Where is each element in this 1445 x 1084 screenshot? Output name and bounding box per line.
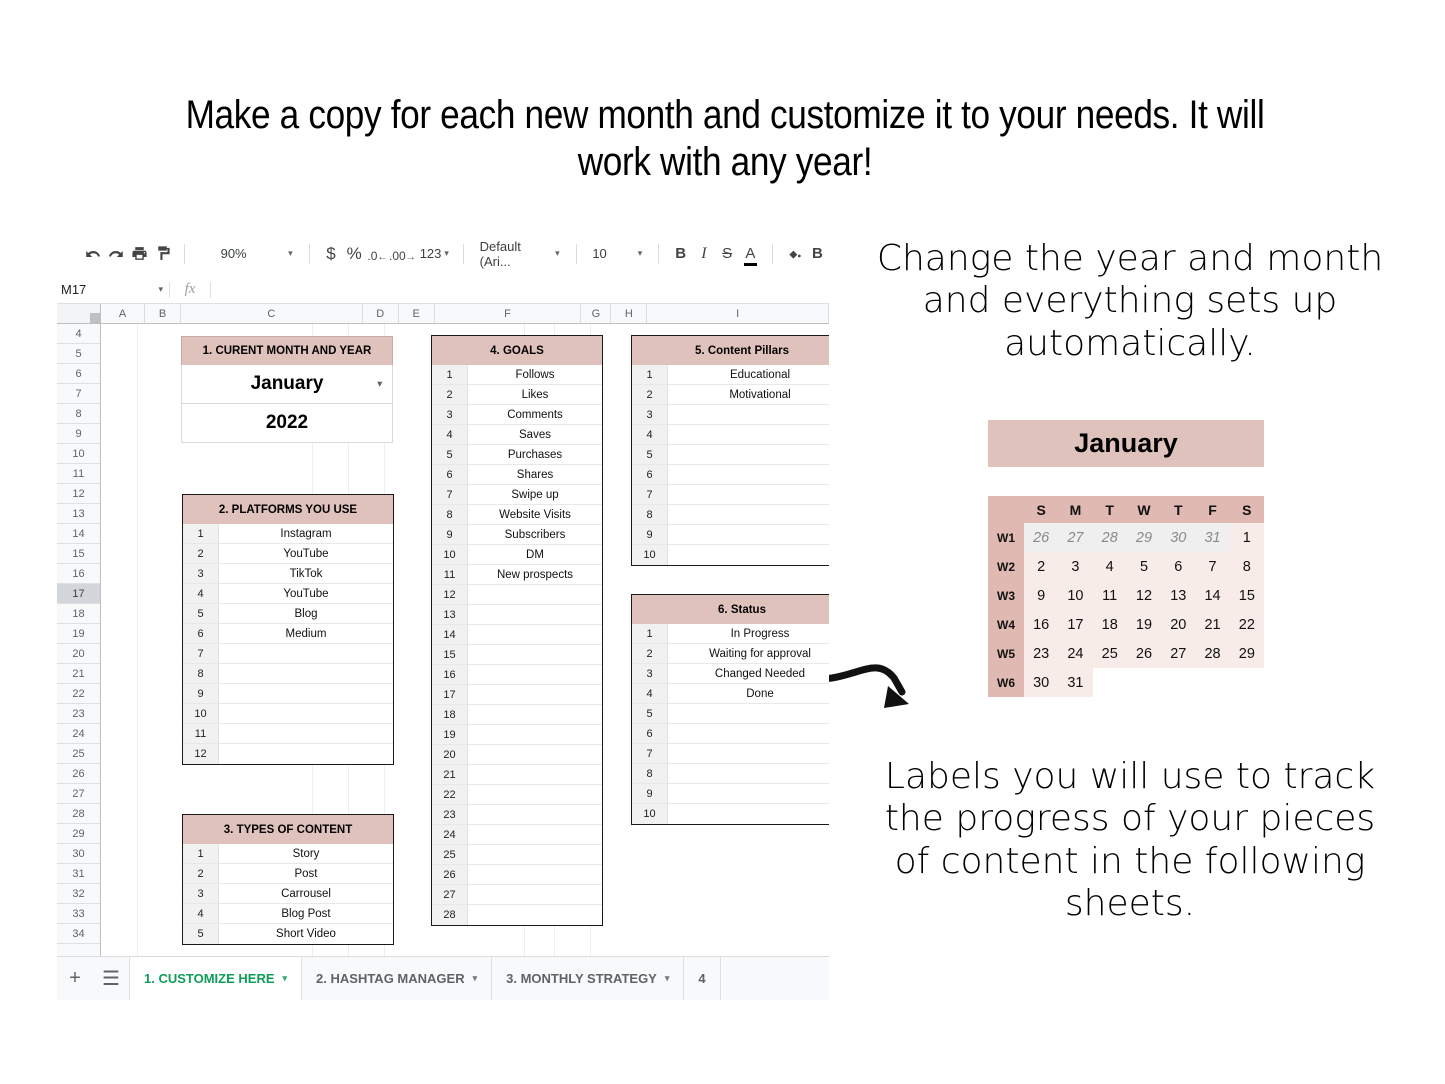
column-header-c[interactable]: C [181, 304, 363, 323]
table-row[interactable]: 4 [632, 425, 829, 445]
strikethrough-button[interactable]: S [715, 239, 738, 269]
table-row[interactable]: 3Changed Needed [632, 664, 829, 684]
row-header-21[interactable]: 21 [57, 664, 100, 684]
table-row[interactable]: 10DM [432, 545, 602, 565]
row-value[interactable]: Follows [468, 365, 602, 384]
calendar-day-cell[interactable]: 31 [1058, 668, 1092, 697]
chevron-down-icon[interactable]: ▾ [473, 973, 478, 984]
currency-format-button[interactable]: $ [319, 239, 342, 269]
table-row[interactable]: 5 [632, 704, 829, 724]
fill-color-icon[interactable] [783, 239, 806, 269]
table-row[interactable]: 6Medium [183, 624, 393, 644]
table-row[interactable]: 6Shares [432, 465, 602, 485]
row-value[interactable]: Blog Post [219, 904, 393, 923]
row-value[interactable]: Swipe up [468, 485, 602, 504]
formula-input[interactable] [211, 276, 829, 304]
calendar-day-cell[interactable]: 14 [1195, 581, 1229, 610]
table-row[interactable]: 25 [432, 845, 602, 865]
calendar-day-cell[interactable]: 28 [1093, 523, 1127, 552]
month-cell[interactable]: January ▾ [181, 365, 393, 404]
table-row[interactable]: 18 [432, 705, 602, 725]
row-header-28[interactable]: 28 [57, 804, 100, 824]
row-index: 2 [183, 864, 219, 883]
table-row[interactable]: 9 [183, 684, 393, 704]
calendar-day-cell[interactable]: 5 [1127, 552, 1161, 581]
row-index: 8 [432, 505, 468, 524]
row-value[interactable] [219, 664, 393, 683]
table-row[interactable]: 11 [183, 724, 393, 744]
print-icon[interactable] [127, 239, 150, 269]
table-row[interactable]: 26 [432, 865, 602, 885]
table-row[interactable]: 17 [432, 685, 602, 705]
calendar-day-cell[interactable]: 10 [1058, 581, 1092, 610]
calendar-day-cell[interactable]: 1 [1230, 523, 1264, 552]
row-header-8[interactable]: 8 [57, 404, 100, 424]
table-row[interactable]: 19 [432, 725, 602, 745]
row-index: 14 [432, 625, 468, 644]
calendar-day-cell[interactable]: 29 [1230, 639, 1264, 668]
row-header-20[interactable]: 20 [57, 644, 100, 664]
calendar-day-cell[interactable]: 2 [1024, 552, 1058, 581]
table-row[interactable]: 5Blog [183, 604, 393, 624]
table-row[interactable]: 4Blog Post [183, 904, 393, 924]
row-value[interactable]: Post [219, 864, 393, 883]
row-value[interactable]: Blog [219, 604, 393, 623]
calendar-weekday-0: S [1024, 496, 1058, 523]
row-value[interactable] [668, 724, 829, 743]
table-row[interactable]: 2YouTube [183, 544, 393, 564]
table-row[interactable]: 14 [432, 625, 602, 645]
row-header-15[interactable]: 15 [57, 544, 100, 564]
table-goals-title: 4. GOALS [432, 336, 602, 365]
row-value[interactable] [668, 465, 829, 484]
table-row[interactable]: 1Follows [432, 365, 602, 385]
row-value[interactable] [468, 645, 602, 664]
row-headers: 4567891011121314151617181920212223242526… [57, 324, 101, 964]
row-value[interactable]: Motivational [668, 385, 829, 404]
row-value[interactable] [468, 825, 602, 844]
row-value[interactable] [668, 784, 829, 803]
row-value[interactable]: Carrousel [219, 884, 393, 903]
row-value[interactable] [468, 605, 602, 624]
row-value[interactable]: Website Visits [468, 505, 602, 524]
column-header-e[interactable]: E [399, 304, 435, 323]
row-value[interactable]: Short Video [219, 924, 393, 944]
row-value[interactable]: New prospects [468, 565, 602, 584]
row-index: 24 [432, 825, 468, 844]
undo-icon[interactable] [81, 239, 104, 269]
row-index: 6 [632, 724, 668, 743]
table-row[interactable]: 7 [632, 744, 829, 764]
row-header-22[interactable]: 22 [57, 684, 100, 704]
table-row[interactable]: 6 [632, 724, 829, 744]
row-value[interactable] [468, 745, 602, 764]
row-value[interactable]: Saves [468, 425, 602, 444]
column-header-i[interactable]: I [647, 304, 829, 323]
table-row[interactable]: 5Purchases [432, 445, 602, 465]
row-index: 12 [432, 585, 468, 604]
calendar-day-cell[interactable]: 31 [1195, 523, 1229, 552]
row-value[interactable] [668, 505, 829, 524]
row-value[interactable] [468, 685, 602, 704]
sheet-tab-2[interactable]: 2. HASHTAG MANAGER▾ [302, 957, 492, 1000]
table-row[interactable]: 12 [183, 744, 393, 764]
row-value[interactable] [468, 625, 602, 644]
row-index: 4 [632, 684, 668, 703]
row-value[interactable]: Likes [468, 385, 602, 404]
calendar-weekday-1: M [1058, 496, 1092, 523]
calendar-day-cell[interactable]: 16 [1024, 610, 1058, 639]
row-index: 7 [432, 485, 468, 504]
row-index: 5 [183, 604, 219, 623]
row-header-25[interactable]: 25 [57, 744, 100, 764]
table-row[interactable]: 1Instagram [183, 524, 393, 544]
decrease-decimal-button[interactable]: .0← [366, 239, 389, 269]
row-index: 1 [183, 524, 219, 543]
table-row[interactable]: 1Story [183, 844, 393, 864]
text-color-button[interactable]: A [739, 239, 762, 269]
row-value[interactable] [468, 865, 602, 884]
row-header-27[interactable]: 27 [57, 784, 100, 804]
row-value[interactable] [219, 644, 393, 663]
row-index: 5 [432, 445, 468, 464]
column-header-a[interactable]: A [101, 304, 145, 323]
name-box[interactable]: M17 ▾ [57, 276, 169, 304]
bold-button[interactable]: B [669, 239, 692, 269]
calendar-day-cell [1161, 668, 1195, 697]
sheet-tab-3[interactable]: 3. MONTHLY STRATEGY▾ [492, 957, 684, 1000]
calendar-day-cell[interactable]: 28 [1195, 639, 1229, 668]
row-index: 13 [432, 605, 468, 624]
table-status-rows: 1In Progress2Waiting for approval3Change… [632, 624, 829, 824]
table-row[interactable]: 6 [632, 465, 829, 485]
calendar-day-cell[interactable]: 19 [1127, 610, 1161, 639]
row-header-10[interactable]: 10 [57, 444, 100, 464]
font-size-select[interactable]: 10 ▾ [586, 240, 648, 268]
row-header-26[interactable]: 26 [57, 764, 100, 784]
calendar-day-cell[interactable]: 23 [1024, 639, 1058, 668]
calendar-day-cell[interactable]: 15 [1230, 581, 1264, 610]
calendar-weekday-6: S [1230, 496, 1264, 523]
annotation-change-year-month: Change the year and month and everything… [875, 238, 1385, 365]
row-value[interactable]: TikTok [219, 564, 393, 583]
chevron-down-icon: ▾ [638, 248, 643, 259]
row-index: 11 [432, 565, 468, 584]
row-index: 11 [183, 724, 219, 743]
table-row[interactable]: 22 [432, 785, 602, 805]
row-value[interactable] [668, 704, 829, 723]
column-header-h[interactable]: H [611, 304, 647, 323]
increase-decimal-button[interactable]: .00→ [389, 239, 416, 269]
row-header-19[interactable]: 19 [57, 624, 100, 644]
row-value[interactable]: Educational [668, 365, 829, 384]
cells-canvas[interactable]: 1. CURENT MONTH AND YEAR January ▾ 2022 … [101, 324, 829, 964]
add-sheet-icon[interactable]: + [57, 957, 93, 1000]
row-value[interactable] [668, 425, 829, 444]
table-row[interactable]: 7 [183, 644, 393, 664]
calendar-day-cell[interactable]: 21 [1195, 610, 1229, 639]
redo-icon[interactable] [104, 239, 127, 269]
calendar-day-cell[interactable]: 26 [1127, 639, 1161, 668]
calendar-weekday-4: T [1161, 496, 1195, 523]
row-header-32[interactable]: 32 [57, 884, 100, 904]
calendar-week-label: W3 [988, 581, 1024, 610]
row-value[interactable] [219, 744, 393, 764]
number-format-button[interactable]: 123 ▾ [416, 240, 453, 268]
row-header-31[interactable]: 31 [57, 864, 100, 884]
row-value[interactable]: Medium [219, 624, 393, 643]
row-header-14[interactable]: 14 [57, 524, 100, 544]
table-row[interactable]: 7 [632, 485, 829, 505]
table-row[interactable]: 3TikTok [183, 564, 393, 584]
row-value[interactable]: Changed Needed [668, 664, 829, 683]
calendar-week-row: W416171819202122 [988, 610, 1264, 639]
row-index: 22 [432, 785, 468, 804]
calendar-day-cell [1093, 668, 1127, 697]
table-row[interactable]: 15 [432, 645, 602, 665]
column-header-f[interactable]: F [435, 304, 582, 323]
row-header-17[interactable]: 17 [57, 584, 100, 604]
row-value[interactable]: Shares [468, 465, 602, 484]
grid-body: 4567891011121314151617181920212223242526… [57, 324, 829, 964]
row-header-24[interactable]: 24 [57, 724, 100, 744]
row-header-6[interactable]: 6 [57, 364, 100, 384]
row-header-29[interactable]: 29 [57, 824, 100, 844]
row-index: 17 [432, 685, 468, 704]
table-row[interactable]: 4YouTube [183, 584, 393, 604]
italic-button[interactable]: I [692, 239, 715, 269]
calendar-day-cell[interactable]: 12 [1127, 581, 1161, 610]
calendar-corner [988, 496, 1024, 523]
row-value[interactable] [468, 885, 602, 904]
table-row[interactable]: 1In Progress [632, 624, 829, 644]
row-index: 20 [432, 745, 468, 764]
row-value[interactable]: Waiting for approval [668, 644, 829, 663]
row-header-18[interactable]: 18 [57, 604, 100, 624]
all-sheets-icon[interactable]: ☰ [93, 957, 129, 1000]
table-row[interactable]: 3 [632, 405, 829, 425]
calendar-day-cell[interactable]: 30 [1161, 523, 1195, 552]
table-row[interactable]: 10 [183, 704, 393, 724]
table-row[interactable]: 8 [632, 505, 829, 525]
row-index: 18 [432, 705, 468, 724]
zoom-control[interactable]: 90% ▾ [195, 240, 299, 268]
toolbar-divider [463, 244, 464, 264]
row-value[interactable] [468, 585, 602, 604]
calendar-day-cell[interactable]: 7 [1195, 552, 1229, 581]
calendar-day-cell[interactable]: 9 [1024, 581, 1058, 610]
table-row[interactable]: 8 [632, 764, 829, 784]
table-row[interactable]: 20 [432, 745, 602, 765]
percent-format-button[interactable]: % [343, 239, 366, 269]
table-row[interactable]: 9 [632, 784, 829, 804]
row-index: 27 [432, 885, 468, 904]
table-row[interactable]: 1Educational [632, 365, 829, 385]
row-value[interactable] [668, 485, 829, 504]
table-row[interactable]: 2Waiting for approval [632, 644, 829, 664]
zoom-value: 90% [201, 246, 247, 261]
row-value[interactable] [668, 764, 829, 783]
row-header-13[interactable]: 13 [57, 504, 100, 524]
table-platforms-rows: 1Instagram2YouTube3TikTok4YouTube5Blog6M… [183, 524, 393, 764]
table-row[interactable]: 5 [632, 445, 829, 465]
row-value[interactable] [668, 405, 829, 424]
row-value[interactable] [468, 725, 602, 744]
calendar-day-cell[interactable]: 6 [1161, 552, 1195, 581]
row-index: 3 [632, 405, 668, 424]
row-value[interactable] [219, 724, 393, 743]
toolbar-divider [658, 244, 659, 264]
font-family-select[interactable]: Default (Ari... ▾ [474, 240, 566, 268]
chevron-down-icon[interactable]: ▾ [283, 973, 288, 984]
row-index: 15 [432, 645, 468, 664]
calendar-week-label: W4 [988, 610, 1024, 639]
row-value[interactable]: Done [668, 684, 829, 703]
row-value[interactable] [668, 744, 829, 763]
table-row[interactable]: 10 [632, 804, 829, 824]
row-header-12[interactable]: 12 [57, 484, 100, 504]
row-index: 5 [183, 924, 219, 944]
row-value[interactable] [668, 445, 829, 464]
year-cell[interactable]: 2022 [181, 404, 393, 443]
row-header-9[interactable]: 9 [57, 424, 100, 444]
calendar-day-cell[interactable]: 8 [1230, 552, 1264, 581]
table-row[interactable]: 13 [432, 605, 602, 625]
chevron-down-icon[interactable]: ▾ [377, 379, 382, 390]
row-index: 8 [632, 505, 668, 524]
row-index: 3 [632, 664, 668, 683]
row-value[interactable] [468, 845, 602, 864]
calendar-day-cell[interactable]: 27 [1058, 523, 1092, 552]
row-value[interactable]: Story [219, 844, 393, 863]
calendar-day-cell[interactable]: 13 [1161, 581, 1195, 610]
annotation-labels-track-progress: Labels you will use to track the progres… [870, 756, 1390, 926]
row-value[interactable] [668, 804, 829, 824]
table-row[interactable]: 10 [632, 545, 829, 565]
row-index: 3 [183, 884, 219, 903]
calendar-weekday-headers: SMTWTFS [988, 496, 1264, 523]
table-row[interactable]: 27 [432, 885, 602, 905]
calendar-day-cell[interactable]: 29 [1127, 523, 1161, 552]
table-row[interactable]: 4Done [632, 684, 829, 704]
table-row[interactable]: 4Saves [432, 425, 602, 445]
row-value[interactable] [668, 545, 829, 565]
table-row[interactable]: 24 [432, 825, 602, 845]
row-value[interactable] [468, 665, 602, 684]
row-value[interactable]: Instagram [219, 524, 393, 543]
calendar-day-cell[interactable]: 18 [1093, 610, 1127, 639]
table-row[interactable]: 28 [432, 905, 602, 925]
row-value[interactable]: YouTube [219, 584, 393, 603]
row-index: 3 [183, 564, 219, 583]
row-header-16[interactable]: 16 [57, 564, 100, 584]
row-index: 9 [632, 784, 668, 803]
table-row[interactable]: 12 [432, 585, 602, 605]
table-row[interactable]: 5Short Video [183, 924, 393, 944]
sheet-tab-label: 2. HASHTAG MANAGER [316, 971, 465, 986]
table-row[interactable]: 2Motivational [632, 385, 829, 405]
table-row[interactable]: 8 [183, 664, 393, 684]
row-header-4[interactable]: 4 [57, 324, 100, 344]
table-row[interactable]: 23 [432, 805, 602, 825]
row-value[interactable]: Comments [468, 405, 602, 424]
table-row[interactable]: 3Carrousel [183, 884, 393, 904]
calendar-day-cell[interactable]: 20 [1161, 610, 1195, 639]
row-value[interactable]: Subscribers [468, 525, 602, 544]
row-value[interactable] [468, 785, 602, 804]
chevron-down-icon: ▾ [444, 248, 449, 259]
row-value[interactable] [468, 805, 602, 824]
row-header-30[interactable]: 30 [57, 844, 100, 864]
row-index: 9 [632, 525, 668, 544]
row-value[interactable] [668, 525, 829, 544]
table-row[interactable]: 8Website Visits [432, 505, 602, 525]
row-value[interactable]: In Progress [668, 624, 829, 643]
row-value[interactable] [468, 905, 602, 925]
column-header-g[interactable]: G [581, 304, 611, 323]
table-types-of-content-title: 3. TYPES OF CONTENT [183, 815, 393, 844]
table-row[interactable]: 7Swipe up [432, 485, 602, 505]
row-index: 4 [432, 425, 468, 444]
row-header-34[interactable]: 34 [57, 924, 100, 944]
column-header-d[interactable]: D [363, 304, 399, 323]
calendar-day-cell[interactable]: 27 [1161, 639, 1195, 668]
row-value[interactable]: Purchases [468, 445, 602, 464]
row-value[interactable] [219, 704, 393, 723]
row-value[interactable]: YouTube [219, 544, 393, 563]
column-header-b[interactable]: B [145, 304, 181, 323]
calendar-day-cell[interactable]: 26 [1024, 523, 1058, 552]
table-row[interactable]: 3Comments [432, 405, 602, 425]
toolbar-divider [309, 244, 310, 264]
row-header-5[interactable]: 5 [57, 344, 100, 364]
chevron-down-icon: ▾ [158, 284, 163, 295]
table-row[interactable]: 2Likes [432, 385, 602, 405]
row-header-33[interactable]: 33 [57, 904, 100, 924]
table-row[interactable]: 21 [432, 765, 602, 785]
calendar-day-cell[interactable]: 11 [1093, 581, 1127, 610]
calendar-day-cell[interactable]: 25 [1093, 639, 1127, 668]
sheet-tab-4[interactable]: 4 [684, 957, 720, 1000]
calendar-day-cell[interactable]: 3 [1058, 552, 1092, 581]
sheet-tab-1[interactable]: 1. CUSTOMIZE HERE▾ [130, 957, 302, 1000]
calendar-day-cell[interactable]: 22 [1230, 610, 1264, 639]
table-row[interactable]: 16 [432, 665, 602, 685]
row-value[interactable] [468, 705, 602, 724]
calendar-day-cell[interactable]: 4 [1093, 552, 1127, 581]
row-header-7[interactable]: 7 [57, 384, 100, 404]
table-row[interactable]: 9Subscribers [432, 525, 602, 545]
calendar-day-cell[interactable]: 30 [1024, 668, 1058, 697]
row-header-11[interactable]: 11 [57, 464, 100, 484]
paint-format-icon[interactable] [151, 239, 174, 269]
row-index: 2 [632, 385, 668, 404]
calendar-day-cell[interactable]: 17 [1058, 610, 1092, 639]
table-row[interactable]: 2Post [183, 864, 393, 884]
select-all-corner[interactable] [57, 304, 101, 323]
calendar-day-cell[interactable]: 24 [1058, 639, 1092, 668]
table-row[interactable]: 11New prospects [432, 565, 602, 585]
row-value[interactable] [468, 765, 602, 784]
grid: ABCDEFGHI 456789101112131415161718192021… [57, 304, 829, 964]
row-header-23[interactable]: 23 [57, 704, 100, 724]
chevron-down-icon[interactable]: ▾ [665, 973, 670, 984]
row-value[interactable] [219, 684, 393, 703]
table-row[interactable]: 9 [632, 525, 829, 545]
row-index: 4 [632, 425, 668, 444]
row-value[interactable]: DM [468, 545, 602, 564]
borders-button[interactable]: B [806, 239, 829, 269]
